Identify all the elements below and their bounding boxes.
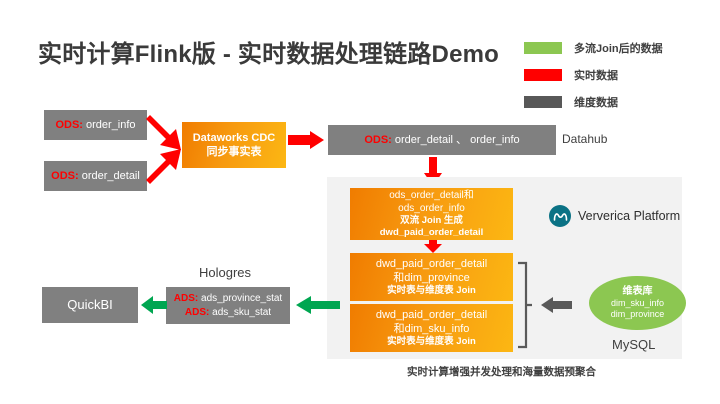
ads-table-name: ads_sku_stat: [209, 307, 271, 318]
arrow-hologres-to-quickbi: [141, 296, 167, 314]
legend-label: 多流Join后的数据: [574, 40, 663, 56]
hologres-ads-box: ADS: ads_province_stat ADS: ads_sku_stat: [166, 287, 290, 324]
ods-tag: ODS:: [51, 170, 79, 182]
ads-row: ADS: ads_sku_stat: [185, 306, 271, 320]
legend: 多流Join后的数据 实时数据 维度数据: [524, 38, 663, 119]
mysql-label: MySQL: [612, 337, 655, 352]
join-box-line-3: 双流 Join 生成 dwd_paid_order_detail: [350, 215, 513, 240]
dimension-join-bracket: [516, 262, 538, 348]
ads-tag: ADS:: [174, 293, 198, 304]
join-box-line-3: 实时表与维度表 Join: [387, 336, 476, 348]
ververica-squirrel-icon: [549, 205, 571, 227]
source-box-text: ODS: order_detail: [51, 169, 140, 184]
quickbi-label: QuickBI: [67, 296, 113, 314]
legend-swatch-gray: [524, 96, 562, 108]
ververica-platform-logo: Ververica Platform: [549, 205, 680, 227]
legend-label: 维度数据: [574, 94, 618, 110]
dimension-table-name: dim_sku_info: [611, 298, 664, 309]
source-table-name: order_info: [83, 119, 136, 131]
join-box-line-1: dwd_paid_order_detail: [376, 257, 487, 271]
source-box-text: ODS: order_info: [55, 118, 135, 133]
join-box-dim-province: dwd_paid_order_detail 和dim_province 实时表与…: [350, 253, 513, 301]
join-box-line-2: 和dim_sku_info: [394, 322, 470, 336]
join-box-line-2: ods_order_info: [398, 202, 465, 215]
arrow-dim-store-to-joins: [541, 297, 573, 313]
dimension-store-ellipse: 维表库 dim_sku_info dim_province: [589, 276, 686, 330]
join-box-line-2: 和dim_province: [393, 271, 469, 285]
datahub-tables: order_detail 、 order_info: [392, 134, 520, 146]
legend-swatch-green: [524, 42, 562, 54]
dataworks-line-2: 同步事实表: [207, 145, 262, 159]
bottom-caption: 实时计算增强并发处理和海量数据预聚合: [407, 364, 596, 379]
legend-swatch-red: [524, 69, 562, 81]
source-box-order-info: ODS: order_info: [44, 110, 147, 140]
legend-item-multi-stream-join: 多流Join后的数据: [524, 38, 663, 57]
page-title: 实时计算Flink版 - 实时数据处理链路Demo: [38, 34, 499, 69]
datahub-label: Datahub: [562, 132, 607, 146]
join-box-dim-sku-info: dwd_paid_order_detail 和dim_sku_info 实时表与…: [350, 304, 513, 352]
arrow-join-1-to-join-2: [423, 240, 443, 254]
quickbi-box: QuickBI: [42, 287, 138, 323]
ververica-platform-name: Ververica Platform: [578, 209, 680, 223]
datahub-topic-box: ODS: order_detail 、 order_info: [328, 125, 556, 155]
source-table-name: order_detail: [79, 170, 140, 182]
datahub-box-text: ODS: order_detail 、 order_info: [364, 133, 519, 148]
hologres-label: Hologres: [199, 265, 251, 280]
join-box-line-1: dwd_paid_order_detail: [376, 308, 487, 322]
legend-item-realtime-data: 实时数据: [524, 65, 663, 84]
dataworks-line-1: Dataworks CDC: [193, 131, 276, 145]
legend-item-dimension-data: 维度数据: [524, 92, 663, 111]
arrow-platform-to-hologres: [296, 296, 340, 314]
source-box-order-detail: ODS: order_detail: [44, 161, 147, 191]
join-box-dual-stream: ods_order_detail和 ods_order_info 双流 Join…: [350, 188, 513, 240]
legend-label: 实时数据: [574, 67, 618, 83]
join-box-line-1: ods_order_detail和: [389, 189, 474, 202]
ads-row: ADS: ads_province_stat: [174, 292, 282, 306]
dimension-store-title: 维表库: [623, 286, 653, 299]
ods-tag: ODS:: [364, 134, 392, 146]
dimension-table-name: dim_province: [611, 309, 665, 320]
dataworks-cdc-box: Dataworks CDC 同步事实表: [182, 122, 286, 168]
ads-table-name: ads_province_stat: [198, 293, 282, 304]
ods-tag: ODS:: [55, 119, 83, 131]
arrow-dataworks-to-datahub: [288, 131, 326, 149]
ads-tag: ADS:: [185, 307, 209, 318]
join-box-line-3: 实时表与维度表 Join: [387, 285, 476, 297]
